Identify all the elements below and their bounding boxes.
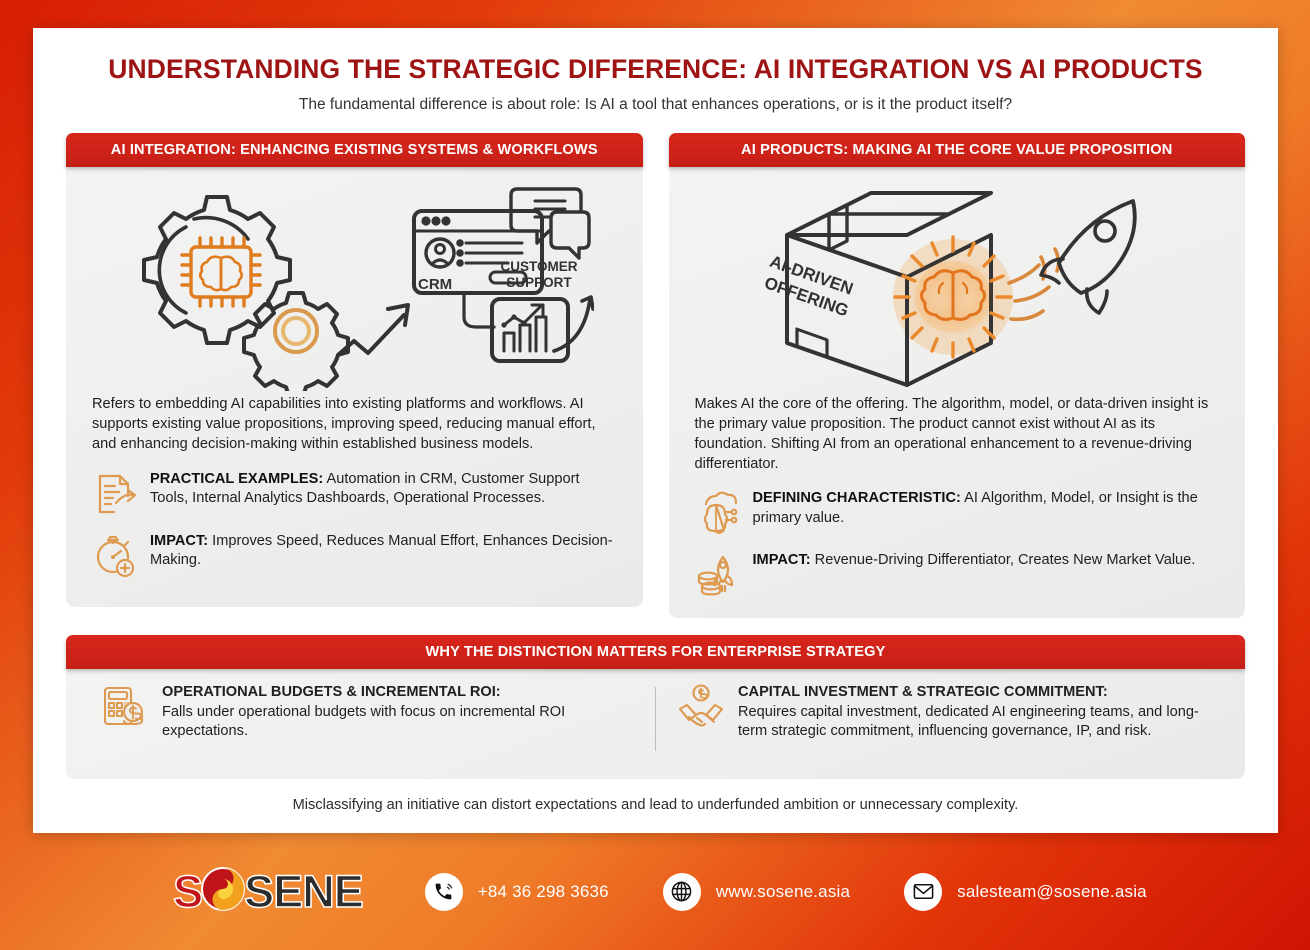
contact-email[interactable]: salesteam@sosene.asia — [904, 873, 1147, 911]
handshake-dollar-icon — [676, 683, 726, 733]
sosene-logo: S S ENE — [173, 866, 363, 917]
calculator-dollar-icon — [100, 683, 150, 733]
globe-icon — [663, 873, 701, 911]
logo-s-dark: S — [244, 869, 273, 914]
bullet-impact-left-label: IMPACT: — [150, 533, 208, 549]
envelope-icon — [904, 873, 942, 911]
footnote: Misclassifying an initiative can distort… — [33, 797, 1278, 813]
crm-label: CRM — [418, 276, 452, 293]
chat-bubbles-icon — [511, 189, 589, 258]
small-gear-icon — [244, 293, 348, 391]
bullet-impact-right-text: IMPACT: Revenue-Driving Differentiator, … — [753, 551, 1196, 571]
card-ai-products: AI PRODUCTS: MAKING AI THE CORE VALUE PR… — [669, 133, 1246, 618]
bullet-practical-examples-label: PRACTICAL EXAMPLES: — [150, 471, 323, 487]
card-ai-products-body: AI-DRIVEN OFFERING — [669, 167, 1246, 618]
logo-swirl-icon — [200, 866, 246, 917]
motion-streak-icon — [1009, 249, 1059, 319]
phone-icon — [425, 873, 463, 911]
contact-phone-label: +84 36 298 3636 — [478, 882, 609, 902]
ai-integration-illustration: CRM CUSTOMER SUPPORT — [92, 179, 617, 391]
rocket-icon — [1041, 201, 1135, 313]
why-distinction-heading: WHY THE DISTINCTION MATTERS FOR ENTERPRI… — [66, 635, 1245, 669]
comparison-columns: AI INTEGRATION: ENHANCING EXISTING SYSTE… — [33, 133, 1278, 618]
panel-item-capital-investment: CAPITAL INVESTMENT & STRATEGIC COMMITMEN… — [664, 683, 1223, 761]
document-arrow-icon — [92, 471, 138, 517]
infographic-page: UNDERSTANDING THE STRATEGIC DIFFERENCE: … — [33, 28, 1278, 833]
bullet-impact-right-body: Revenue-Driving Differentiator, Creates … — [811, 552, 1196, 568]
footer-bar: S S ENE +84 36 298 3636 — [0, 833, 1310, 950]
contact-website-label: www.sosene.asia — [716, 882, 850, 902]
panel-item-operational-budgets-text: OPERATIONAL BUDGETS & INCREMENTAL ROI: F… — [162, 683, 635, 742]
brain-cloud-chip-icon — [695, 490, 741, 536]
why-distinction-panel: WHY THE DISTINCTION MATTERS FOR ENTERPRI… — [66, 635, 1245, 779]
logo-s-red: S — [173, 869, 202, 914]
logo-ene: ENE — [273, 869, 363, 914]
bullet-impact-right: IMPACT: Revenue-Driving Differentiator, … — [695, 551, 1220, 598]
bullet-defining-characteristic: DEFINING CHARACTERISTIC: AI Algorithm, M… — [695, 489, 1220, 536]
card-ai-products-heading: AI PRODUCTS: MAKING AI THE CORE VALUE PR… — [669, 133, 1246, 167]
why-distinction-body: OPERATIONAL BUDGETS & INCREMENTAL ROI: F… — [66, 669, 1245, 779]
panel-item-operational-budgets: OPERATIONAL BUDGETS & INCREMENTAL ROI: F… — [88, 683, 647, 761]
growth-arrow-icon — [338, 305, 408, 355]
contact-website[interactable]: www.sosene.asia — [663, 873, 850, 911]
stopwatch-plus-icon — [92, 533, 138, 579]
card-ai-integration: AI INTEGRATION: ENHANCING EXISTING SYSTE… — [66, 133, 643, 618]
bullet-impact-right-label: IMPACT: — [753, 552, 811, 568]
panel-item-operational-budgets-label: OPERATIONAL BUDGETS & INCREMENTAL ROI: — [162, 684, 501, 700]
bullet-practical-examples-text: PRACTICAL EXAMPLES: Automation in CRM, C… — [150, 470, 617, 509]
bullet-impact-left: IMPACT: Improves Speed, Reduces Manual E… — [92, 532, 617, 579]
card-ai-integration-heading: AI INTEGRATION: ENHANCING EXISTING SYSTE… — [66, 133, 643, 167]
page-subtitle: The fundamental difference is about role… — [33, 96, 1278, 114]
panel-item-operational-budgets-body: Falls under operational budgets with foc… — [162, 704, 565, 740]
upward-curve-arrow-icon — [554, 297, 593, 351]
ai-integration-paragraph: Refers to embedding AI capabilities into… — [92, 395, 617, 455]
bullet-defining-characteristic-text: DEFINING CHARACTERISTIC: AI Algorithm, M… — [753, 489, 1220, 528]
panel-item-capital-investment-text: CAPITAL INVESTMENT & STRATEGIC COMMITMEN… — [738, 683, 1211, 742]
customer-support-label-line2: SUPPORT — [507, 275, 573, 290]
panel-item-capital-investment-label: CAPITAL INVESTMENT & STRATEGIC COMMITMEN… — [738, 684, 1108, 700]
ai-chip-brain-icon — [182, 238, 260, 306]
bullet-defining-characteristic-label: DEFINING CHARACTERISTIC: — [753, 490, 961, 506]
card-ai-integration-body: CRM CUSTOMER SUPPORT — [66, 167, 643, 607]
panel-divider — [655, 687, 656, 751]
bullet-impact-left-text: IMPACT: Improves Speed, Reduces Manual E… — [150, 532, 617, 571]
bullet-practical-examples: PRACTICAL EXAMPLES: Automation in CRM, C… — [92, 470, 617, 517]
customer-support-label-line1: CUSTOMER — [501, 259, 578, 274]
coins-rocket-icon — [695, 552, 741, 598]
connector-line — [464, 293, 494, 327]
page-title: UNDERSTANDING THE STRATEGIC DIFFERENCE: … — [33, 54, 1278, 85]
contact-phone[interactable]: +84 36 298 3636 — [425, 873, 609, 911]
large-gear-icon — [144, 197, 290, 343]
ai-products-illustration: AI-DRIVEN OFFERING — [695, 179, 1220, 391]
panel-item-capital-investment-body: Requires capital investment, dedicated A… — [738, 704, 1199, 740]
bullet-impact-left-body: Improves Speed, Reduces Manual Effort, E… — [150, 533, 613, 569]
ai-products-paragraph: Makes AI the core of the offering. The a… — [695, 395, 1220, 474]
contact-email-label: salesteam@sosene.asia — [957, 882, 1147, 902]
